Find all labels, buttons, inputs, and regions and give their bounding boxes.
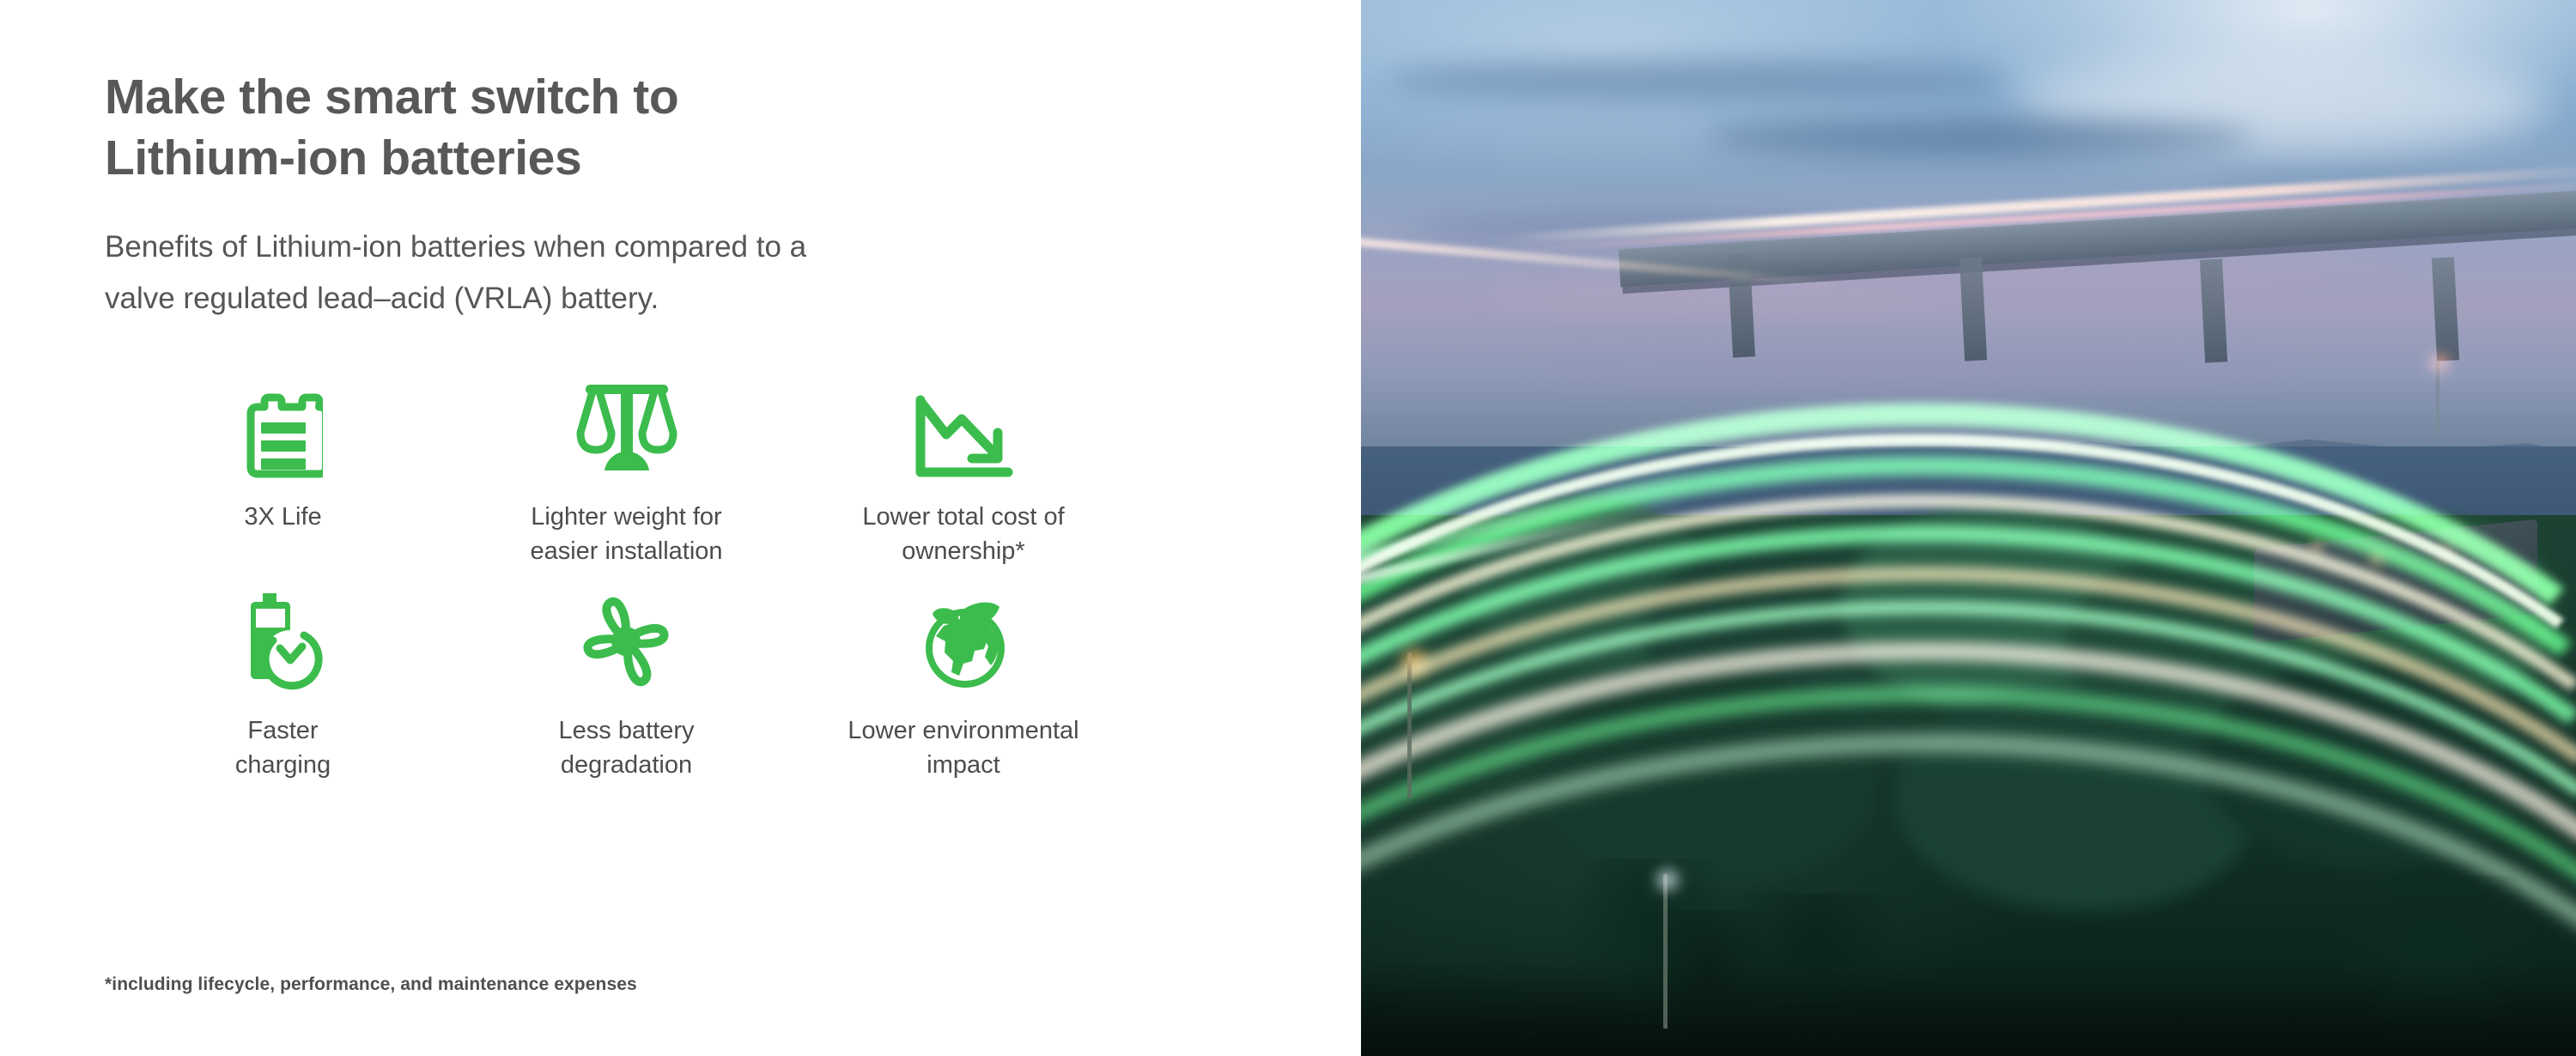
benefit-label: Lower environmental impact xyxy=(848,713,1078,782)
benefit-label: 3X Life xyxy=(244,500,321,534)
balance-scale-icon xyxy=(574,378,680,481)
benefits-grid: 3X Life xyxy=(105,378,1221,782)
benefit-label: Less battery degradation xyxy=(559,713,695,782)
benefit-label: Faster charging xyxy=(235,713,331,782)
promo-page: Make the smart switch to Lithium-ion bat… xyxy=(0,0,2576,1056)
battery-clock-icon xyxy=(237,584,330,691)
globe-leaf-icon xyxy=(914,584,1013,691)
flower-pinwheel-icon xyxy=(576,584,677,691)
benefit-item-3x-life: 3X Life xyxy=(105,378,461,568)
benefit-item-lighter-weight: Lighter weight for easier installation xyxy=(461,378,792,568)
benefit-item-less-degradation: Less battery degradation xyxy=(461,584,792,782)
street-lamps xyxy=(1361,0,2576,1056)
content-panel: Make the smart switch to Lithium-ion bat… xyxy=(0,0,1361,1056)
declining-chart-icon xyxy=(912,378,1015,481)
page-title: Make the smart switch to Lithium-ion bat… xyxy=(105,67,678,188)
benefit-item-faster-charging: Faster charging xyxy=(105,584,461,782)
benefit-item-lower-cost: Lower total cost of ownership* xyxy=(792,378,1135,568)
footnote: *including lifecycle, performance, and m… xyxy=(105,974,637,995)
cityscape-photo xyxy=(1361,0,2576,1056)
battery-3-bars-icon xyxy=(244,378,323,481)
benefit-label: Lighter weight for easier installation xyxy=(530,500,722,568)
benefit-item-lower-impact: Lower environmental impact xyxy=(792,584,1135,782)
benefit-label: Lower total cost of ownership* xyxy=(862,500,1064,568)
page-subtitle: Benefits of Lithium-ion batteries when c… xyxy=(105,222,806,325)
